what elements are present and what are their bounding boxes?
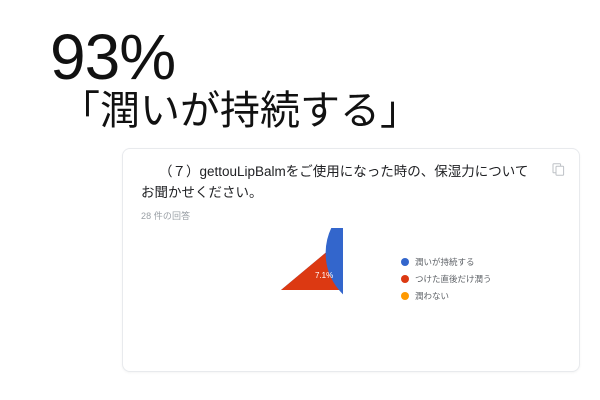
survey-result-card: （７）gettouLipBalmをご使用になった時の、保湿力についてお聞かせくだ… [122,148,580,372]
legend-label-0: 潤いが持続する [415,256,475,268]
legend-swatch-icon [401,258,409,266]
chart-legend: 潤いが持続する つけた直後だけ潤う 潤わない [401,256,571,307]
pie-slice-label-1: 7.1% [315,271,333,280]
legend-label-2: 潤わない [415,290,449,302]
headline-percent: 93% [50,24,570,90]
legend-item-1[interactable]: つけた直後だけ潤う [401,273,571,285]
headline-subtitle: 「潤いが持続する」 [60,88,570,134]
legend-item-0[interactable]: 潤いが持続する [401,256,571,268]
legend-swatch-icon [401,292,409,300]
card-header: （７）gettouLipBalmをご使用になった時の、保湿力についてお聞かせくだ… [123,149,579,222]
legend-label-1: つけた直後だけ潤う [415,273,492,285]
copy-icon[interactable] [552,163,565,176]
chart-area: 92.9% 7.1% 潤いが持続する つけた直後だけ潤う 潤わない [123,224,579,364]
headline-block: 93% 「潤いが持続する」 [50,24,570,134]
pie-chart: 92.9% 7.1% [219,228,343,352]
question-title: （７）gettouLipBalmをご使用になった時の、保湿力についてお聞かせくだ… [141,161,535,203]
response-count: 28 件の回答 [141,210,535,222]
legend-item-2[interactable]: 潤わない [401,290,571,302]
legend-swatch-icon [401,275,409,283]
pie-slice-label-0: 92.9% [249,309,272,318]
